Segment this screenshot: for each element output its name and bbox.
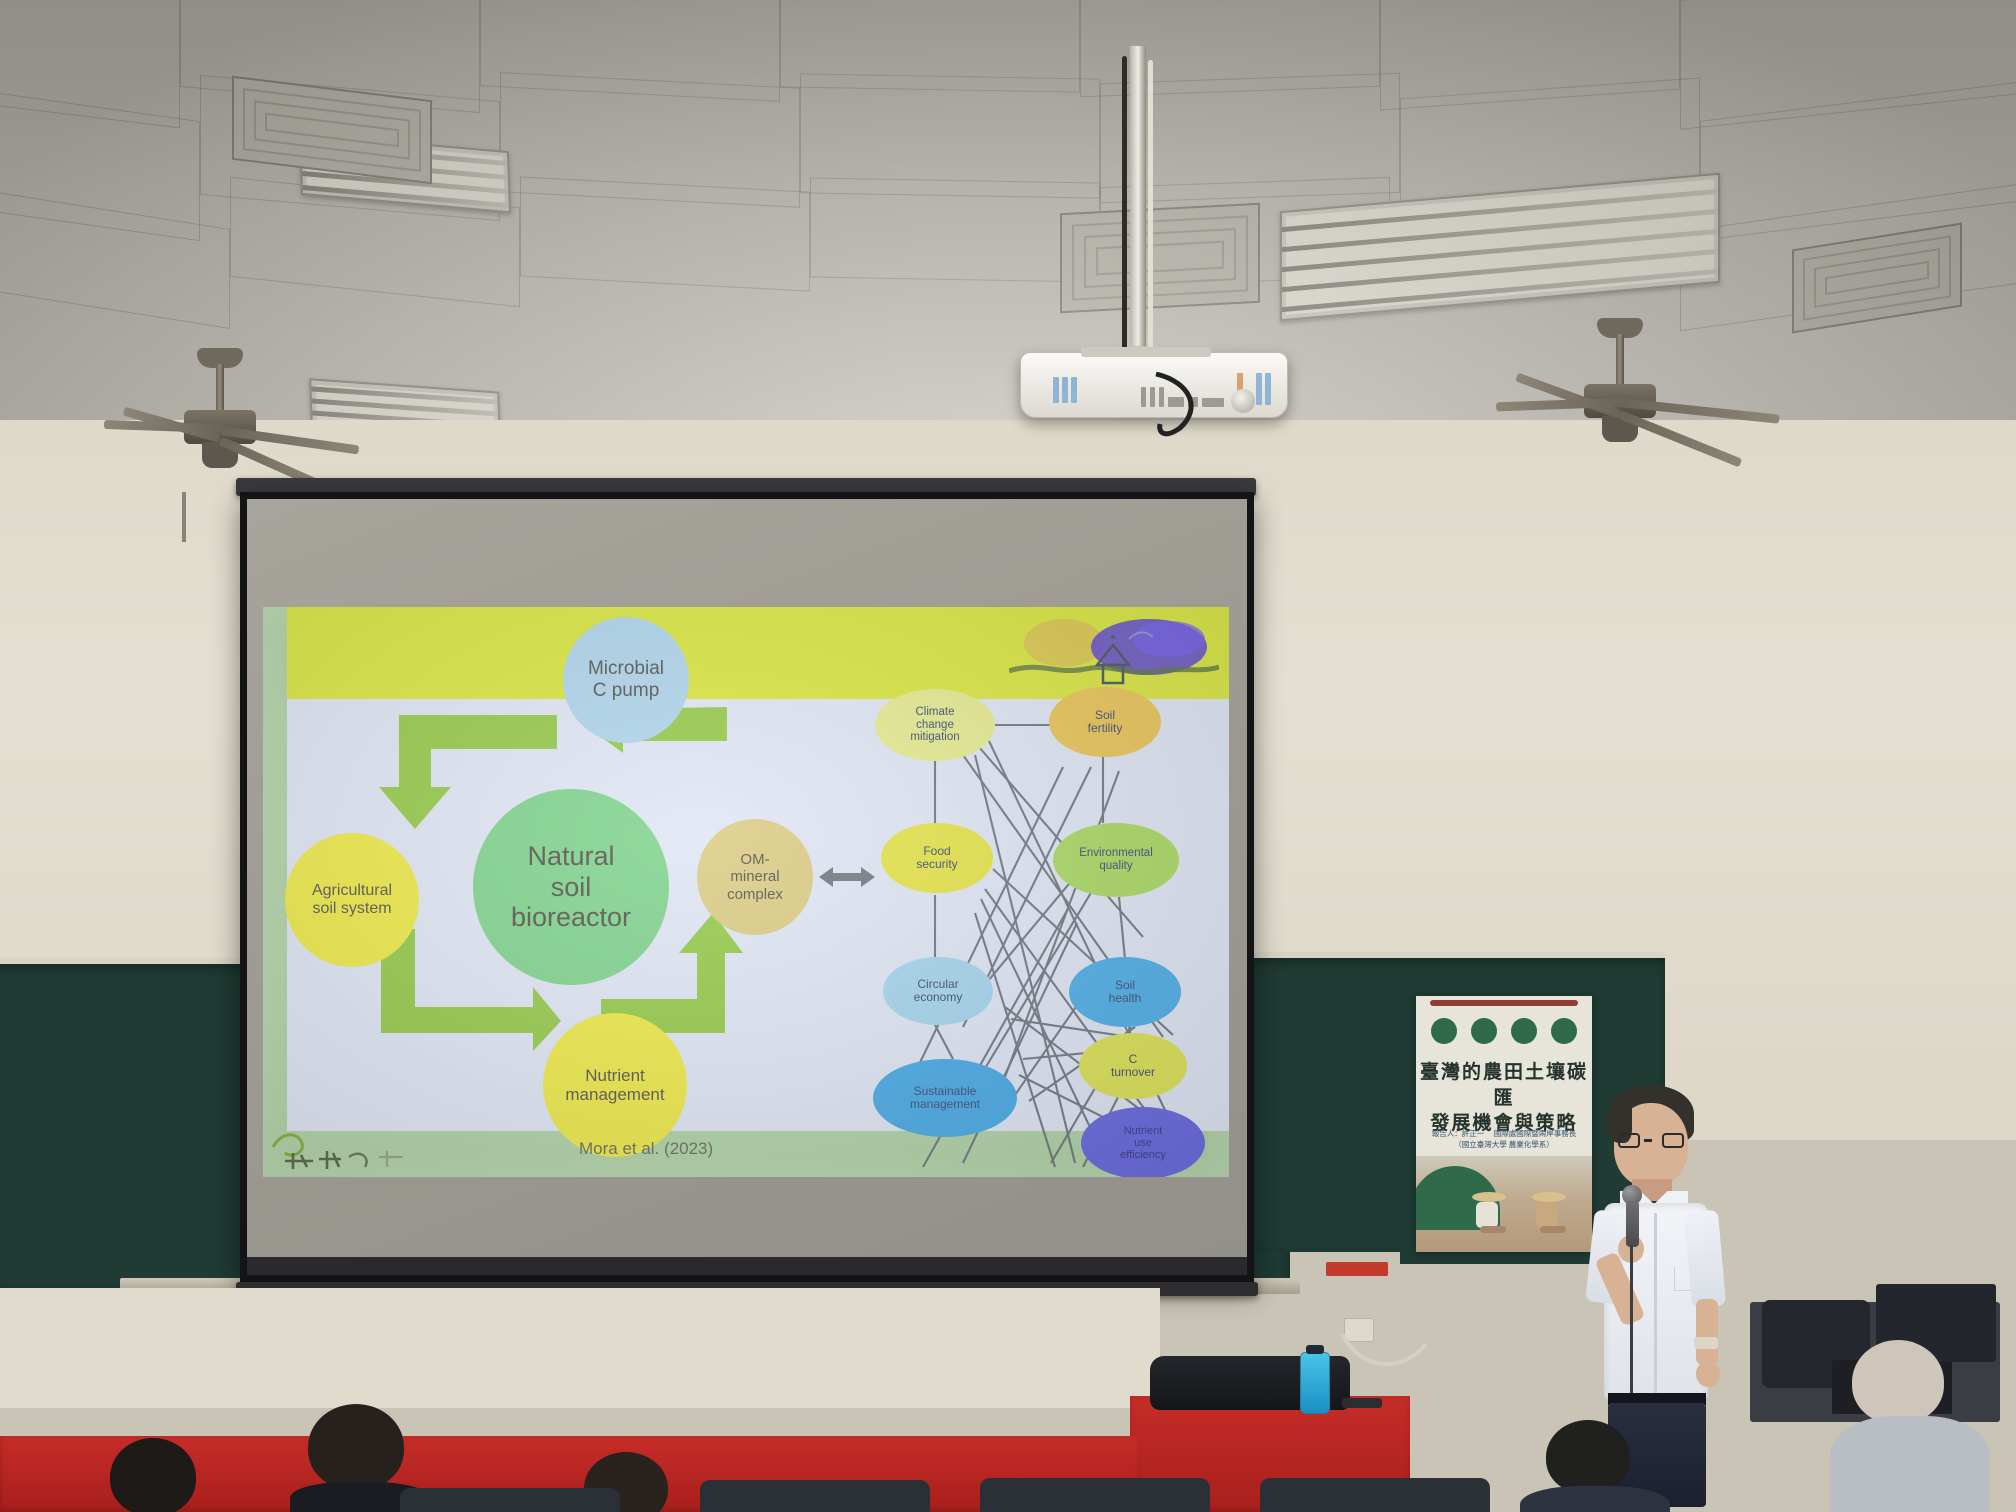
phone-on-table[interactable]: [1342, 1398, 1382, 1408]
projector-mount-pole: [1130, 46, 1146, 346]
node-label: Nutrient use efficiency: [1120, 1125, 1166, 1162]
node-nutrient-use-efficiency[interactable]: Nutrient use efficiency: [1081, 1107, 1205, 1177]
wristwatch: [1694, 1337, 1718, 1349]
lecture-hall-photo: Microbial C pump Agricultural soil syste…: [0, 0, 2016, 1512]
soil-icon: [1551, 1018, 1577, 1044]
bottle-cap: [1306, 1345, 1324, 1354]
node-label: Microbial C pump: [588, 658, 664, 701]
projector-power-cable: [1150, 372, 1230, 442]
globe-icon: [1471, 1018, 1497, 1044]
slide-citation: Mora et al. (2023): [579, 1139, 713, 1159]
blue-water-bottle[interactable]: [1300, 1352, 1330, 1414]
audience-member: [1520, 1420, 1670, 1512]
seat-back[interactable]: [400, 1488, 620, 1512]
audience-member: [90, 1438, 220, 1512]
seat-back[interactable]: [1260, 1478, 1490, 1512]
node-food-security[interactable]: Food security: [881, 823, 993, 893]
node-label: C turnover: [1111, 1053, 1155, 1080]
node-label: Soil fertility: [1088, 709, 1123, 736]
stage-front-wall: [0, 1288, 1160, 1408]
projector-cable: [1122, 56, 1127, 356]
node-label: Nutrient management: [565, 1066, 664, 1105]
node-label: Soil health: [1109, 979, 1142, 1006]
node-nutrient-management[interactable]: Nutrient management: [543, 1013, 687, 1157]
plant-icon: [1511, 1018, 1537, 1044]
poster-icon-row: [1416, 1018, 1592, 1044]
farmer-figure: [1468, 1192, 1514, 1240]
node-label: Environmental quality: [1079, 847, 1153, 873]
seat-back[interactable]: [700, 1480, 930, 1512]
right-forearm: [1696, 1299, 1718, 1365]
slide-content: Microbial C pump Agricultural soil syste…: [263, 607, 1229, 1177]
node-c-turnover[interactable]: C turnover: [1079, 1033, 1187, 1099]
node-climate-change-mitigation[interactable]: Climate change mitigation: [875, 689, 995, 761]
projector-cable: [1148, 60, 1153, 350]
eraser[interactable]: [1326, 1262, 1388, 1276]
ceiling-fan-right: [1560, 318, 1680, 448]
node-environmental-quality[interactable]: Environmental quality: [1053, 823, 1179, 897]
projection-screen: Microbial C pump Agricultural soil syste…: [240, 492, 1254, 1282]
glasses: [1618, 1133, 1684, 1151]
node-natural-soil-bioreactor[interactable]: Natural soil bioreactor: [473, 789, 669, 985]
node-soil-health[interactable]: Soil health: [1069, 957, 1181, 1027]
node-label: Natural soil bioreactor: [511, 841, 631, 933]
screen-bottom-edge: [247, 1257, 1247, 1275]
right-hand: [1696, 1361, 1720, 1387]
node-soil-fertility[interactable]: Soil fertility: [1049, 687, 1161, 757]
bidirectional-arrow: [819, 863, 875, 896]
node-microbial-c-pump[interactable]: Microbial C pump: [563, 617, 689, 743]
ceiling: [0, 0, 2016, 420]
leaf-icon: [1431, 1018, 1457, 1044]
microphone[interactable]: [1626, 1201, 1639, 1247]
node-sustainable-management[interactable]: Sustainable management: [873, 1059, 1017, 1137]
right-arm: [1684, 1210, 1726, 1309]
node-label: Climate change mitigation: [910, 706, 959, 745]
seat-back[interactable]: [980, 1478, 1210, 1512]
node-label: Sustainable management: [910, 1085, 980, 1112]
ceiling-fan-left: [160, 348, 280, 468]
node-om-mineral-complex[interactable]: OM- mineral complex: [697, 819, 813, 935]
poster-top-rule: [1430, 1000, 1578, 1006]
shirt-placket: [1654, 1213, 1657, 1397]
audience-member: [1830, 1340, 1980, 1512]
node-label: Circular economy: [914, 978, 963, 1005]
node-circular-economy[interactable]: Circular economy: [883, 957, 993, 1025]
pavilion-watermark-logo: [1009, 609, 1219, 697]
fan-hanger: [182, 492, 186, 542]
node-label: OM- mineral complex: [727, 851, 783, 902]
microphone-cord: [1630, 1245, 1633, 1395]
node-label: Agricultural soil system: [312, 882, 392, 918]
node-agricultural-soil-system[interactable]: Agricultural soil system: [285, 833, 419, 967]
node-label: Food security: [916, 845, 957, 872]
calligraphy-signature-logo: [267, 1119, 417, 1173]
